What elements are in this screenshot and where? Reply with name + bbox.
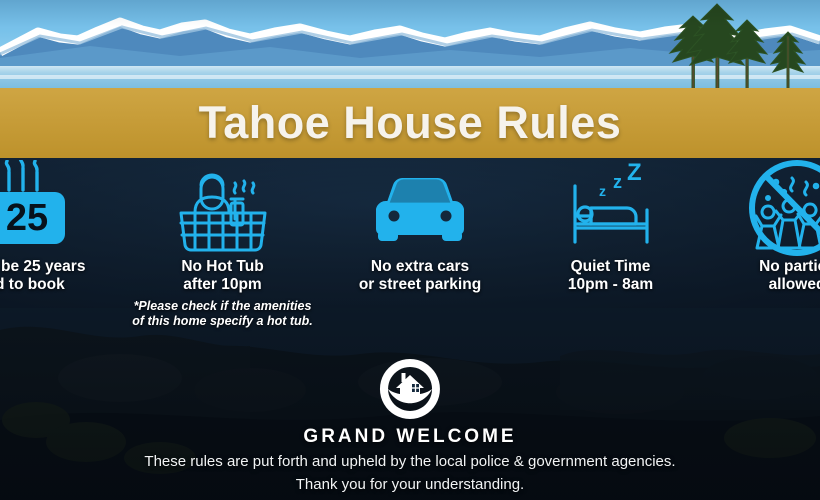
rule-age-line2: old to book (0, 276, 108, 294)
rule-hot-tub-line2: after 10pm (130, 276, 315, 294)
brand-logo-block: GRAND WELCOME (0, 358, 820, 448)
rule-quiet-line2: 10pm - 8am (528, 276, 693, 294)
lake-tahoe-banner-photo (0, 0, 820, 90)
rule-item-quiet-time: z z Z Quiet Time 10pm - 8am (528, 158, 693, 295)
car-icon (325, 158, 515, 258)
bed-sleep-icon: z z Z (528, 158, 693, 258)
rule-quiet-line1: Quiet Time (528, 258, 693, 276)
rule-item-hot-tub: No Hot Tub after 10pm *Please check if t… (130, 158, 315, 329)
page-title: Tahoe House Rules (0, 88, 820, 158)
rules-row: 25 Must be 25 years old to book (0, 158, 820, 378)
house-rules-poster: Tahoe House Rules (0, 0, 820, 500)
birthday-cake-25-icon: 25 (0, 158, 108, 258)
rule-item-age: 25 Must be 25 years old to book (0, 158, 108, 295)
footer-line-1: These rules are put forth and upheld by … (0, 450, 820, 473)
svg-text:z: z (613, 172, 622, 192)
rule-parking-line1: No extra cars (325, 258, 515, 276)
svg-text:z: z (599, 183, 606, 199)
footer-line-2: Thank you for your understanding. (0, 473, 820, 496)
rule-item-parking: No extra cars or street parking (325, 158, 515, 295)
rule-no-parties-line2: allowed (712, 276, 820, 294)
rule-parking-line2: or street parking (325, 276, 515, 294)
banner-shading (0, 0, 820, 90)
no-parties-icon (712, 158, 820, 258)
rule-hot-tub-line1: No Hot Tub (130, 258, 315, 276)
hot-tub-icon (130, 158, 315, 258)
age-badge-number: 25 (6, 197, 48, 239)
brand-name: GRAND WELCOME (0, 426, 820, 448)
grand-welcome-house-logo (379, 358, 441, 420)
rule-hot-tub-note: *Please check if the amenities of this h… (130, 299, 315, 330)
rule-age-line1: Must be 25 years (0, 258, 108, 276)
svg-text:Z: Z (627, 162, 642, 186)
rule-no-parties-line1: No parties (712, 258, 820, 276)
rule-item-no-parties: No parties allowed (712, 158, 820, 295)
footer-disclaimer: These rules are put forth and upheld by … (0, 450, 820, 497)
